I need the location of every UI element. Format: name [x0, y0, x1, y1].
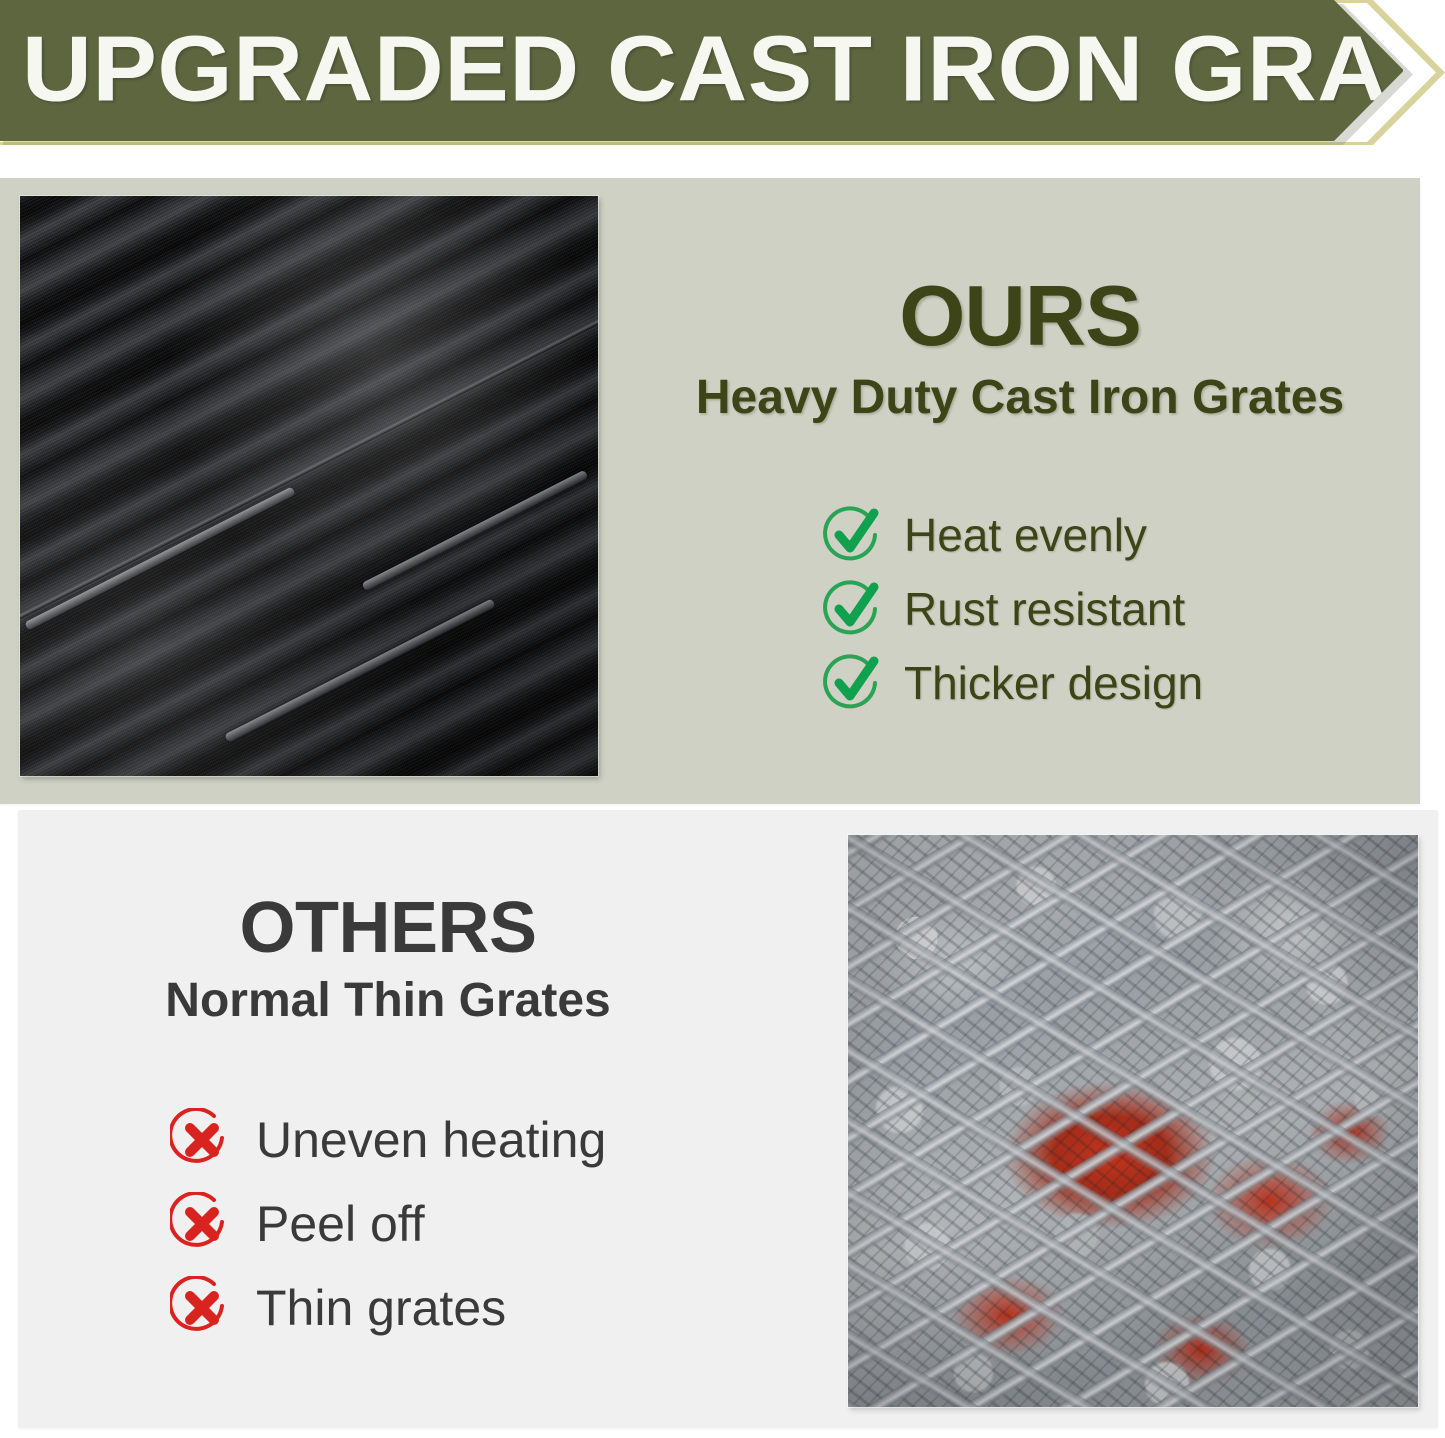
others-panel: OTHERS Normal Thin Grates Uneven heating: [18, 810, 1438, 1428]
feature-label: Heat evenly: [904, 512, 1147, 558]
ours-text-column: OURS Heavy Duty Cast Iron Grates Heat ev…: [620, 178, 1420, 804]
drawback-label: Peel off: [256, 1199, 425, 1249]
drawback-label: Thin grates: [256, 1283, 506, 1333]
banner-arrow-shape: UPGRADED CAST IRON GRATES: [0, 0, 1404, 141]
list-item: Rust resistant: [822, 572, 1422, 646]
check-circle-icon: [822, 652, 884, 714]
others-product-photo: [848, 835, 1418, 1407]
others-text-column: OTHERS Normal Thin Grates Uneven heating: [138, 810, 758, 1428]
list-item: Peel off: [170, 1182, 770, 1266]
feature-label: Thicker design: [904, 660, 1203, 706]
drawback-label: Uneven heating: [256, 1115, 606, 1165]
page-title: UPGRADED CAST IRON GRATES: [22, 22, 1445, 115]
ours-product-photo: [20, 196, 598, 776]
x-circle-icon: [170, 1108, 234, 1172]
ours-heading: OURS: [620, 274, 1420, 359]
photo-vignette-overlay: [848, 835, 1418, 1407]
ours-panel: OURS Heavy Duty Cast Iron Grates Heat ev…: [0, 178, 1420, 804]
x-circle-icon: [170, 1192, 234, 1256]
feature-label: Rust resistant: [904, 586, 1185, 632]
list-item: Thin grates: [170, 1266, 770, 1350]
list-item: Uneven heating: [170, 1098, 770, 1182]
list-item: Thicker design: [822, 646, 1422, 720]
others-drawback-list: Uneven heating Peel off: [170, 1098, 770, 1350]
others-heading: OTHERS: [138, 892, 638, 964]
ours-feature-list: Heat evenly Rust resistant: [822, 498, 1422, 720]
list-item: Heat evenly: [822, 498, 1422, 572]
header-banner: UPGRADED CAST IRON GRATES: [0, 0, 1445, 145]
others-subheading: Normal Thin Grates: [138, 977, 638, 1025]
photo-gloss-overlay: [20, 196, 598, 776]
x-circle-icon: [170, 1276, 234, 1340]
check-circle-icon: [822, 504, 884, 566]
check-circle-icon: [822, 578, 884, 640]
ours-subheading: Heavy Duty Cast Iron Grates: [620, 374, 1420, 422]
